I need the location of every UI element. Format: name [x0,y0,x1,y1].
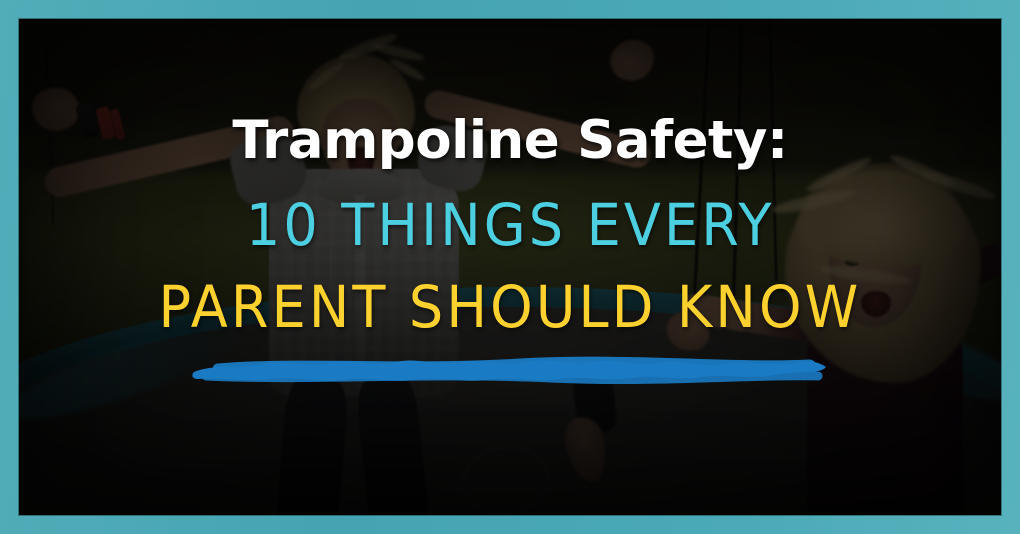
graphic-frame: Trampoline Safety: 10 THINGS EVERY PAREN… [0,0,1020,534]
brush-stroke-underline [190,350,830,384]
headline-line-1: Trampoline Safety: [232,114,787,167]
brush-stroke-svg [190,350,830,384]
title-block: Trampoline Safety: 10 THINGS EVERY PAREN… [19,19,1001,515]
photo-background: Trampoline Safety: 10 THINGS EVERY PAREN… [19,19,1001,515]
headline-line-2: 10 THINGS EVERY [246,197,775,255]
headline-line-3: PARENT SHOULD KNOW [159,279,862,337]
